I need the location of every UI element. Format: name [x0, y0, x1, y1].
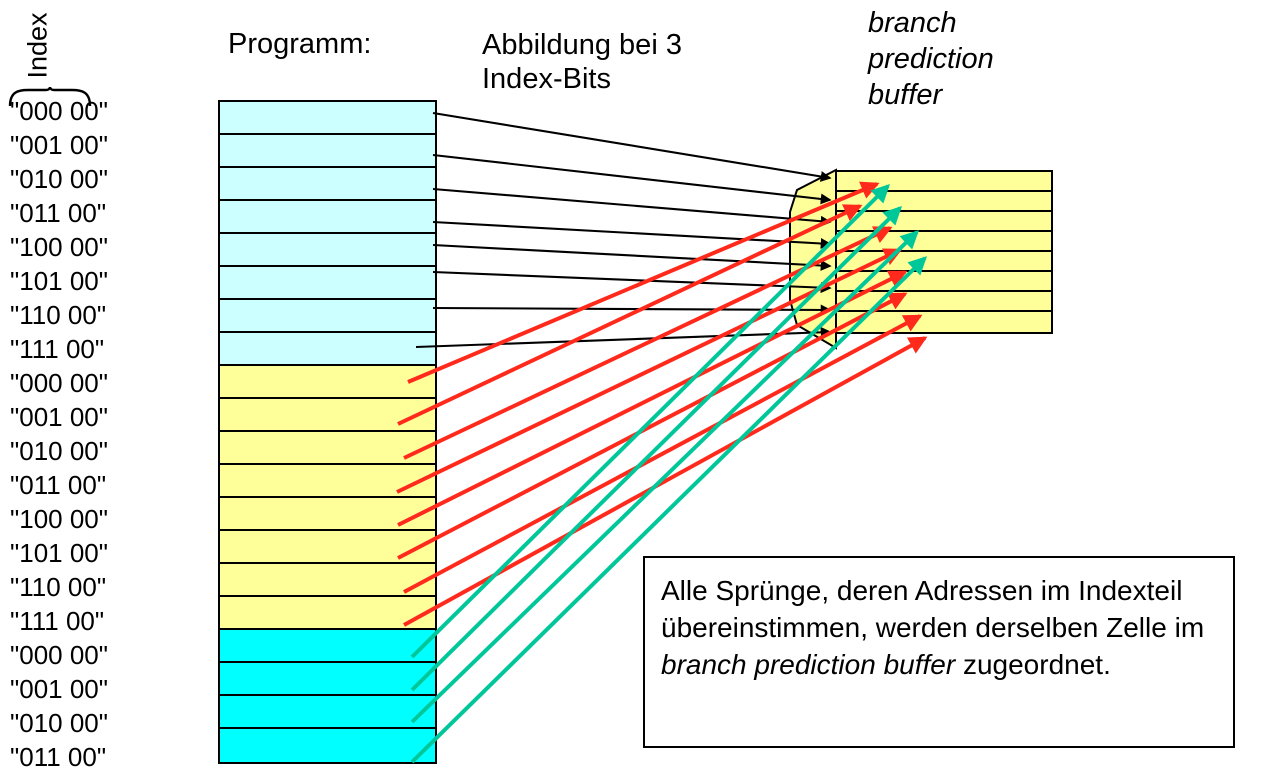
diagram-canvas: Index "000 00" "001 00" "010 00" "011 00…	[0, 0, 1261, 784]
arrow-black	[433, 222, 830, 244]
arrow-red	[404, 316, 920, 592]
arrow-black	[433, 308, 830, 310]
caption-text-part1: Alle Sprünge, deren Adressen im Indextei…	[661, 575, 1204, 643]
arrow-black	[433, 113, 830, 178]
caption-text-part2: zugeordnet.	[955, 649, 1111, 680]
caption-box: Alle Sprünge, deren Adressen im Indextei…	[643, 556, 1235, 748]
caption-text-italic: branch prediction buffer	[661, 649, 955, 680]
